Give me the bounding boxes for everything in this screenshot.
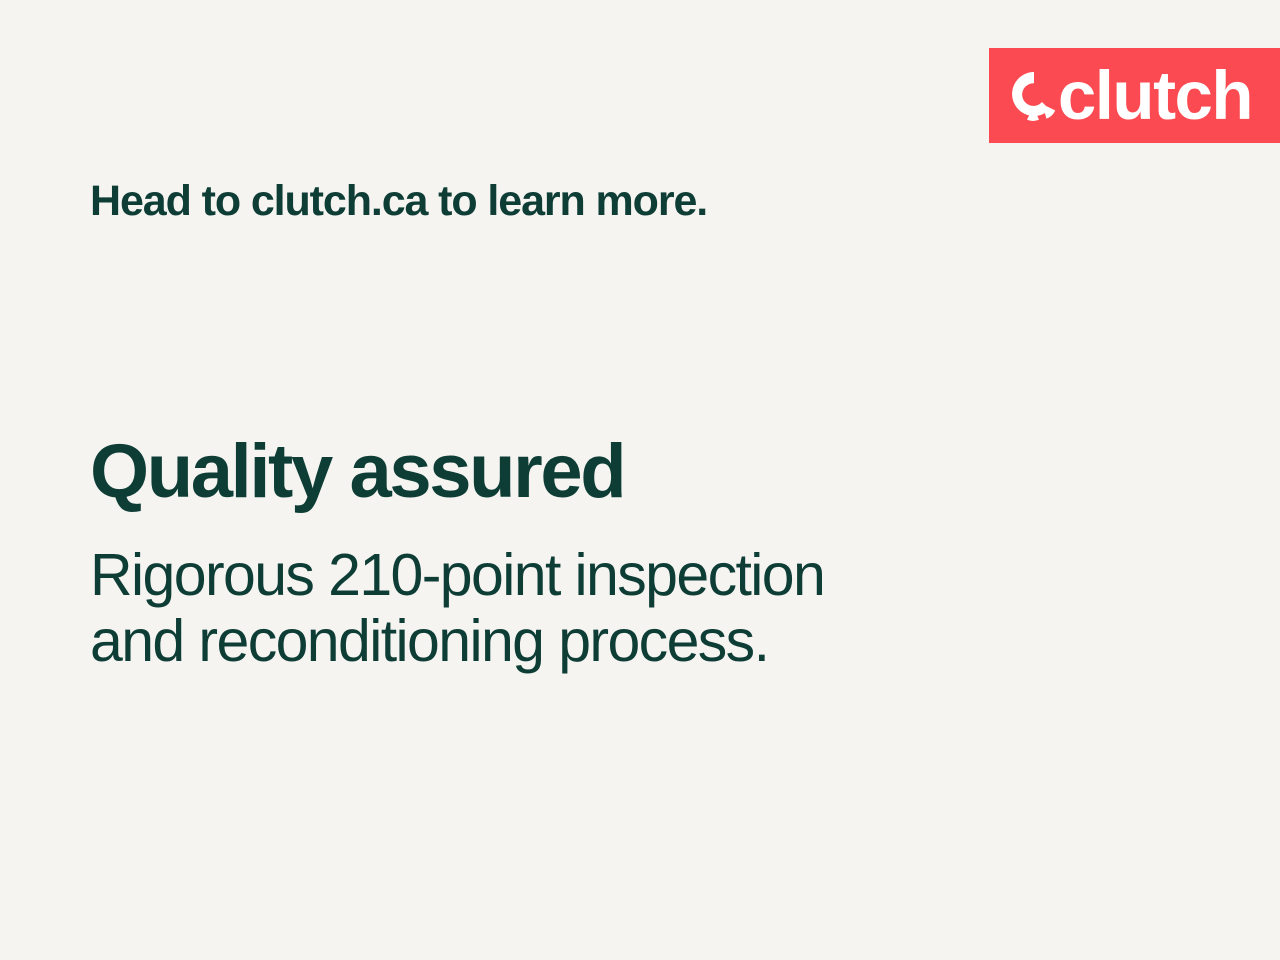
subcopy-line: and reconditioning process. — [90, 608, 824, 674]
page-title: Quality assured — [90, 434, 624, 510]
clutch-wordmark: clutch — [1011, 61, 1252, 130]
subcopy: Rigorous 210-point inspection and recond… — [90, 542, 824, 674]
clutch-logo-text: clutch — [1058, 61, 1252, 130]
clutch-logo-block[interactable]: clutch — [989, 48, 1280, 143]
lead-line: Head to clutch.ca to learn more. — [90, 178, 707, 225]
clutch-c-mark-icon — [1011, 68, 1057, 124]
subcopy-line: Rigorous 210-point inspection — [90, 542, 824, 608]
promo-slide: clutch Head to clutch.ca to learn more. … — [0, 0, 1280, 960]
